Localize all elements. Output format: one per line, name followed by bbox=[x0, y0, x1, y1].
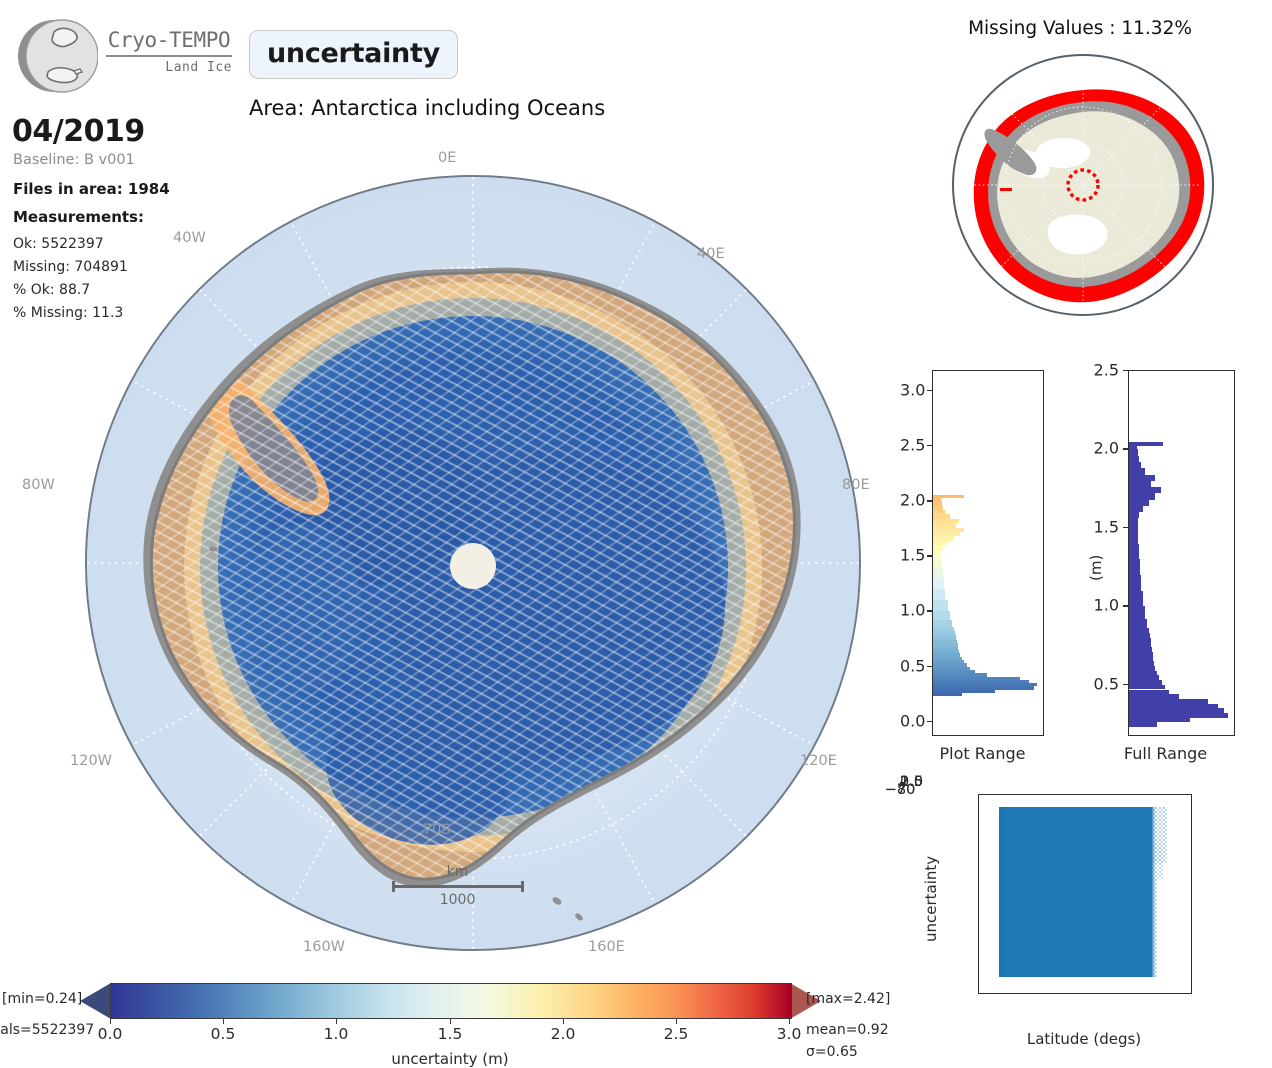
histogram-bar bbox=[1129, 462, 1141, 468]
histogram-bar bbox=[1129, 638, 1151, 643]
histogram-bar bbox=[933, 620, 952, 627]
histogram-bar bbox=[933, 663, 967, 666]
uncertainty-colorbar[interactable]: 0.0 0.5 1.0 1.5 2.0 2.5 3.0 uncertainty … bbox=[0, 978, 900, 1060]
histogram-bar bbox=[933, 545, 943, 549]
histogram-bar bbox=[1129, 666, 1155, 671]
histogram-tick-label: 1.5 bbox=[900, 546, 923, 565]
histogram-bar bbox=[1129, 487, 1161, 493]
histogram-bar bbox=[933, 680, 1029, 683]
scatter-points bbox=[979, 795, 1191, 993]
histogram-tick-label: 1.0 bbox=[1073, 596, 1119, 615]
histogram-bar bbox=[933, 673, 987, 676]
scalebar-unit: km bbox=[392, 864, 524, 880]
colorbar-tick-5: 2.5 bbox=[664, 1025, 689, 1043]
antarctica-uncertainty-map[interactable]: 70S km 1000 0E 40E 80E 120E 160E 160W 12… bbox=[60, 150, 880, 970]
histogram-bar bbox=[1129, 500, 1149, 506]
colorbar-tick-4: 2.0 bbox=[551, 1025, 576, 1043]
histogram-bar bbox=[1129, 671, 1157, 676]
histogram-bar bbox=[933, 657, 962, 660]
histogram-bar bbox=[1129, 544, 1139, 560]
histogram-tick-label: 2.0 bbox=[900, 491, 923, 510]
lon-label-120w: 120W bbox=[70, 753, 112, 769]
histogram-bar bbox=[933, 498, 941, 501]
histogram-bar bbox=[933, 630, 955, 633]
area-title: Area: Antarctica including Oceans bbox=[249, 96, 669, 120]
histogram-bar bbox=[933, 528, 964, 532]
histogram-bar bbox=[1129, 690, 1169, 695]
histogram-tick bbox=[927, 721, 932, 722]
histogram-bar bbox=[933, 693, 962, 696]
histogram-bar bbox=[1129, 647, 1152, 652]
histogram-bar bbox=[933, 653, 960, 656]
histogram-tick-label: 3.0 bbox=[900, 380, 923, 399]
lon-label-0e: 0E bbox=[438, 150, 456, 166]
scatter-xlabel: Latitude (degs) bbox=[978, 1030, 1190, 1048]
histogram-bar bbox=[1129, 468, 1145, 474]
histogram-bar bbox=[1129, 694, 1179, 699]
histogram-bar bbox=[933, 640, 957, 643]
histogram-bar bbox=[1129, 575, 1141, 591]
lon-label-160w: 160W bbox=[303, 939, 345, 955]
histogram-bar bbox=[933, 556, 942, 567]
scalebar-value: 1000 bbox=[392, 892, 524, 908]
histogram-bar bbox=[933, 660, 964, 663]
scatter-ylabel: uncertainty bbox=[922, 856, 940, 942]
lon-label-80w: 80W bbox=[22, 477, 55, 493]
histogram-bar bbox=[933, 677, 1020, 680]
colorbar-mean-label: mean=0.92 bbox=[806, 1022, 889, 1038]
histogram-tick bbox=[927, 610, 932, 611]
full-range-ylabel: (m) bbox=[1087, 555, 1105, 581]
histogram-bar bbox=[933, 650, 959, 653]
histogram-tick-label: 2.5 bbox=[900, 436, 923, 455]
full-range-caption: Full Range bbox=[1083, 744, 1248, 763]
colorbar-tick-3: 1.5 bbox=[438, 1025, 463, 1043]
histogram-tick bbox=[1123, 448, 1128, 449]
histogram-bar bbox=[933, 567, 943, 578]
histogram-bar bbox=[1129, 481, 1151, 487]
map-projection-disc: 70S km 1000 bbox=[85, 175, 861, 951]
histogram-bar bbox=[1129, 633, 1150, 638]
histogram-bar bbox=[933, 667, 970, 670]
histogram-bar bbox=[933, 550, 942, 557]
missing-values-title: Missing Values : 11.32% bbox=[900, 18, 1260, 39]
histogram-bar bbox=[1129, 661, 1154, 666]
histogram-bar bbox=[1129, 642, 1151, 647]
histogram-bar bbox=[933, 532, 960, 536]
histogram-bar bbox=[1129, 704, 1218, 709]
histogram-tick-label: 0.5 bbox=[900, 656, 923, 675]
colorbar-tick-0: 0.0 bbox=[98, 1025, 123, 1043]
histogram-bar bbox=[933, 536, 954, 540]
lon-label-160e: 160E bbox=[588, 939, 625, 955]
histogram-tick bbox=[1123, 605, 1128, 606]
pole-hole bbox=[450, 543, 496, 589]
histogram-bar bbox=[1129, 512, 1139, 518]
histogram-bar bbox=[1129, 493, 1155, 499]
logo-divider bbox=[106, 55, 232, 57]
histogram-bar bbox=[933, 634, 956, 637]
histogram-bar bbox=[1129, 718, 1190, 723]
histogram-tick bbox=[927, 555, 932, 556]
histogram-bar bbox=[1129, 518, 1138, 527]
histogram-tick-label: 2.0 bbox=[1073, 439, 1119, 458]
histogram-tick bbox=[927, 500, 932, 501]
colorbar-nvals-label: vals=5522397 bbox=[0, 1022, 94, 1038]
colorbar-tick-2: 1.0 bbox=[324, 1025, 349, 1043]
histogram-bar bbox=[1129, 591, 1143, 607]
lon-label-40e: 40E bbox=[697, 246, 725, 262]
histogram-tick bbox=[1123, 684, 1128, 685]
histogram-bar bbox=[1129, 722, 1157, 727]
histogram-tick-label: 2.5 bbox=[1073, 361, 1119, 380]
scalebar-line bbox=[392, 881, 524, 891]
histogram-bar bbox=[1129, 456, 1139, 462]
histogram-bar bbox=[1129, 628, 1149, 633]
histogram-bar bbox=[933, 600, 948, 611]
histogram-bar bbox=[1129, 449, 1138, 455]
scatter-plot-area bbox=[978, 794, 1192, 994]
histogram-tick bbox=[927, 445, 932, 446]
histogram-bar bbox=[933, 690, 995, 693]
histogram-bar bbox=[933, 627, 954, 630]
histogram-bar bbox=[933, 506, 943, 510]
histogram-bar bbox=[933, 670, 975, 673]
histogram-tick-label: 0.5 bbox=[1073, 674, 1119, 693]
histogram-bar bbox=[1129, 619, 1147, 628]
histogram-bar bbox=[1129, 699, 1208, 704]
histogram-bar bbox=[1129, 528, 1138, 544]
histogram-tick-label: 1.0 bbox=[900, 601, 923, 620]
colorbar-sigma-label: σ=0.65 bbox=[806, 1044, 858, 1060]
colorbar-max-label: [max=2.42] bbox=[806, 991, 890, 1007]
histogram-bar bbox=[1129, 652, 1153, 657]
lon-label-40w: 40W bbox=[173, 230, 206, 246]
missing-values-layer bbox=[954, 56, 1212, 314]
colorbar-tick-1: 0.5 bbox=[211, 1025, 236, 1043]
scatter-y-tick-label: 2.5 bbox=[900, 774, 923, 790]
logo-title: Cryo-TEMPO bbox=[104, 30, 234, 51]
histogram-bar bbox=[1129, 506, 1143, 512]
variable-title-badge: uncertainty bbox=[249, 30, 458, 79]
histogram-bar bbox=[933, 683, 1037, 686]
histogram-bar bbox=[1129, 559, 1140, 575]
cryo-tempo-logo: Cryo-TEMPO Land Ice bbox=[14, 12, 229, 98]
colorbar-axis-label: uncertainty (m) bbox=[110, 1050, 790, 1068]
lat-label-70s: 70S bbox=[423, 822, 451, 838]
plot-range-frame bbox=[932, 370, 1044, 736]
lon-label-80e: 80E bbox=[842, 477, 870, 493]
histogram-bar bbox=[933, 578, 944, 589]
histogram-tick bbox=[927, 390, 932, 391]
histogram-bar bbox=[933, 637, 956, 640]
histogram-bar bbox=[1129, 657, 1153, 662]
histogram-tick-label: 1.5 bbox=[1073, 517, 1119, 536]
histogram-bar bbox=[1129, 475, 1155, 481]
histogram-bar bbox=[933, 686, 1034, 689]
histogram-bar bbox=[933, 523, 956, 527]
full-range-histogram[interactable]: (m) Full Range 0.51.01.52.02.5 bbox=[1073, 366, 1248, 766]
uncertainty-vs-latitude-scatter[interactable]: Latitude (degs) uncertainty −80−700.51.0… bbox=[900, 782, 1260, 1060]
histogram-bar bbox=[933, 643, 958, 646]
plot-range-histogram[interactable]: Plot Range 0.00.51.01.52.02.53.0 bbox=[900, 366, 1065, 766]
histogram-tick bbox=[1123, 370, 1128, 371]
histogram-bar bbox=[933, 510, 945, 514]
histogram-bar bbox=[933, 611, 950, 620]
histogram-bar bbox=[933, 501, 942, 505]
histogram-tick bbox=[1123, 527, 1128, 528]
histogram-tick-label: 0.0 bbox=[900, 711, 923, 730]
full-range-frame bbox=[1128, 370, 1235, 736]
missing-values-panel[interactable]: Missing Values : 11.32% bbox=[900, 18, 1260, 358]
colorbar-gradient bbox=[110, 983, 792, 1019]
logo-wordmark: Cryo-TEMPO Land Ice bbox=[104, 30, 234, 75]
date-label: 04/2019 bbox=[12, 114, 145, 149]
lon-label-120e: 120E bbox=[800, 753, 837, 769]
histogram-bar bbox=[933, 514, 950, 518]
logo-subtitle: Land Ice bbox=[104, 60, 234, 75]
histogram-bar bbox=[1129, 442, 1163, 447]
histogram-bar bbox=[1129, 446, 1137, 449]
colorbar-under-arrow bbox=[80, 983, 111, 1019]
histogram-bar bbox=[933, 519, 959, 523]
colorbar-tick-6: 3.0 bbox=[777, 1025, 802, 1043]
histogram-bar bbox=[1129, 713, 1228, 718]
map-scalebar: km 1000 bbox=[392, 864, 524, 908]
histogram-bar bbox=[1129, 675, 1159, 680]
histogram-bar bbox=[1129, 708, 1224, 713]
histogram-bar bbox=[933, 495, 964, 498]
histogram-bar bbox=[1129, 606, 1145, 619]
histogram-bar bbox=[1129, 680, 1162, 685]
globe-crescent-icon bbox=[14, 14, 98, 98]
histogram-bar bbox=[933, 589, 945, 600]
histogram-tick bbox=[927, 666, 932, 667]
histogram-bar bbox=[933, 647, 958, 650]
colorbar-min-label: [min=0.24] bbox=[2, 991, 82, 1007]
histogram-bar bbox=[933, 541, 948, 545]
histogram-bar bbox=[1129, 685, 1165, 690]
plot-range-caption: Plot Range bbox=[900, 744, 1065, 763]
missing-values-disc bbox=[952, 54, 1214, 316]
